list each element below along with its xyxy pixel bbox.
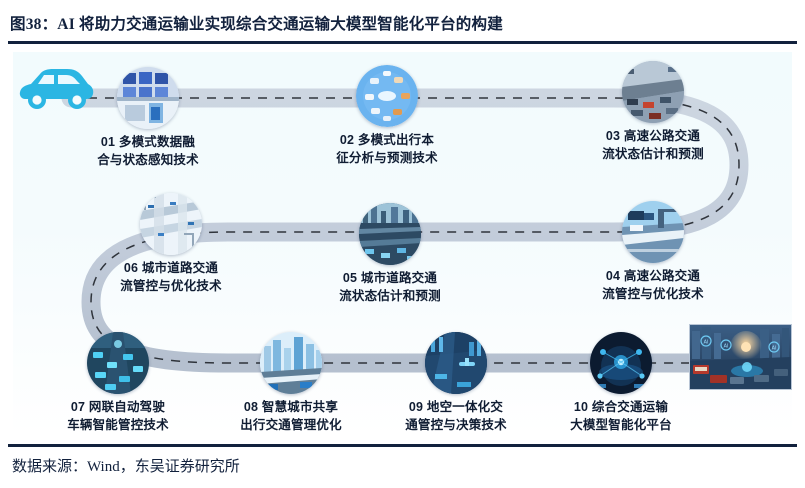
roadmap-node-label: 05 城市道路交通 流状态估计和预测 [302,270,478,306]
title-divider [8,41,797,44]
roadmap-node-label: 10 综合交通运输 大模型智能化平台 [533,399,709,435]
footer-divider [8,444,797,447]
integrated-transport-platform-icon [590,332,652,394]
roadmap-node-label: 03 高速公路交通 流状态估计和预测 [565,128,741,164]
roadmap-node-label: 06 城市道路交通 流管控与优化技术 [83,260,259,296]
svg-text:AI: AI [724,344,729,350]
roadmap-node-label: 07 网联自动驾驶 车辆智能管控技术 [30,399,206,435]
air-ground-integration-icon [425,332,487,394]
smart-city-icon [260,332,322,394]
multimodal-travel-icon [356,65,418,127]
roadmap-node-label: 02 多模式出行本 征分析与预测技术 [299,132,475,168]
source-note: 数据来源：Wind，东吴证券研究所 [12,455,240,476]
connected-autonomous-vehicle-icon [87,332,149,394]
ai-smart-transport-image: AI AI AI [689,324,792,390]
city-road-traffic-icon [359,203,421,265]
urban-road-network-icon [140,193,202,255]
roadmap-node-label: 08 智慧城市共享 出行交通管理优化 [203,399,379,435]
svg-text:AI: AI [772,346,777,352]
roadmap-node-label: 01 多模式数据融 合与状态感知技术 [60,134,236,170]
highway-traffic-flow-icon [622,61,684,123]
roadmap-node-label: 04 高速公路交通 流管控与优化技术 [565,268,741,304]
traffic-control-room-icon [117,67,179,129]
figure-panel: 01 多模式数据融 合与状态感知技术 02 多模式出行本 征分析与预测技术 [13,52,792,436]
car-icon [17,65,95,117]
svg-text:AI: AI [704,340,709,346]
roadmap-node-label: 09 地空一体化交 通管控与决策技术 [368,399,544,435]
page-title: 图38：AI 将助力交通运输业实现综合交通运输大模型智能化平台的构建 [10,12,795,34]
highway-control-icon [622,201,684,263]
